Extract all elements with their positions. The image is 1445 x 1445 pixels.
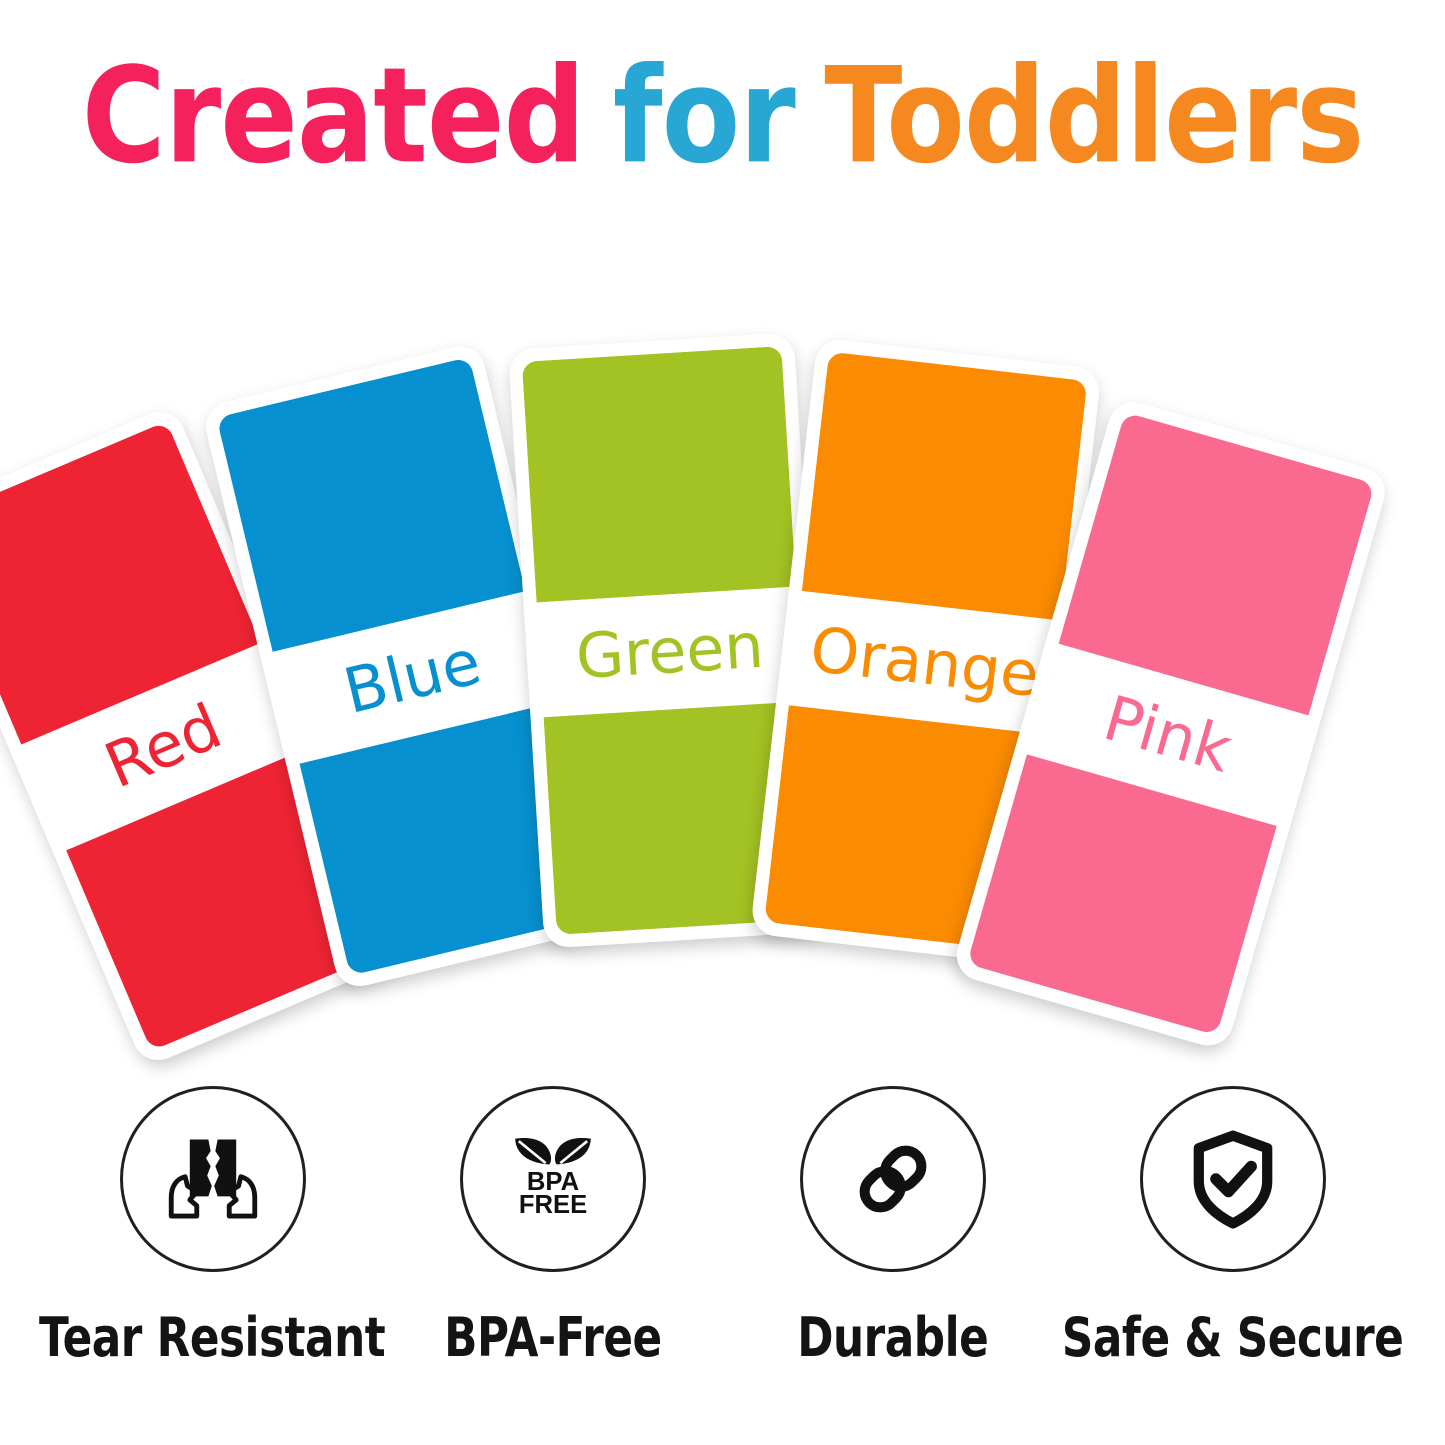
feature-label: Tear Resistant — [39, 1306, 385, 1370]
badge-circle: BPA FREE — [460, 1086, 646, 1272]
page-title: CreatedforToddlers — [0, 62, 1445, 186]
card-label-band: Green — [537, 587, 804, 717]
feature-label: BPA-Free — [444, 1306, 662, 1370]
flashcard-fan: Red Blue Green — [0, 300, 1445, 1090]
shield-check-icon — [1176, 1122, 1290, 1236]
card-label-text: Pink — [1097, 687, 1238, 782]
bpa-free-leaf-icon: BPA FREE — [492, 1118, 614, 1240]
svg-text:FREE: FREE — [518, 1191, 586, 1219]
card-label-text: Green — [574, 615, 765, 688]
badge-circle — [800, 1086, 986, 1272]
feature-bpa-free: BPA FREE BPA-Free — [383, 1086, 723, 1361]
card-top-band — [802, 352, 1088, 621]
title-word-created: Created — [81, 47, 584, 186]
card-label-text: Blue — [339, 631, 487, 723]
feature-badge-row: Tear Resistant BPA FREE BPA-Free — [0, 1086, 1445, 1361]
title-word-for: for — [613, 47, 795, 186]
card-label-text: Red — [97, 695, 230, 798]
feature-durable: Durable — [723, 1086, 1063, 1361]
feature-label: Durable — [797, 1306, 988, 1370]
feature-label: Safe & Secure — [1062, 1306, 1404, 1370]
title-word-toddlers: Toddlers — [824, 47, 1363, 186]
chain-link-icon — [837, 1123, 949, 1235]
card-top-band — [522, 346, 796, 603]
badge-circle — [120, 1086, 306, 1272]
feature-tear-resistant: Tear Resistant — [43, 1086, 383, 1361]
badge-circle — [1140, 1086, 1326, 1272]
feature-safe-secure: Safe & Secure — [1063, 1086, 1403, 1361]
tearing-hands-icon — [155, 1121, 271, 1237]
product-feature-graphic: CreatedforToddlers Red Blue — [0, 0, 1445, 1445]
card-label-text: Orange — [807, 619, 1042, 707]
